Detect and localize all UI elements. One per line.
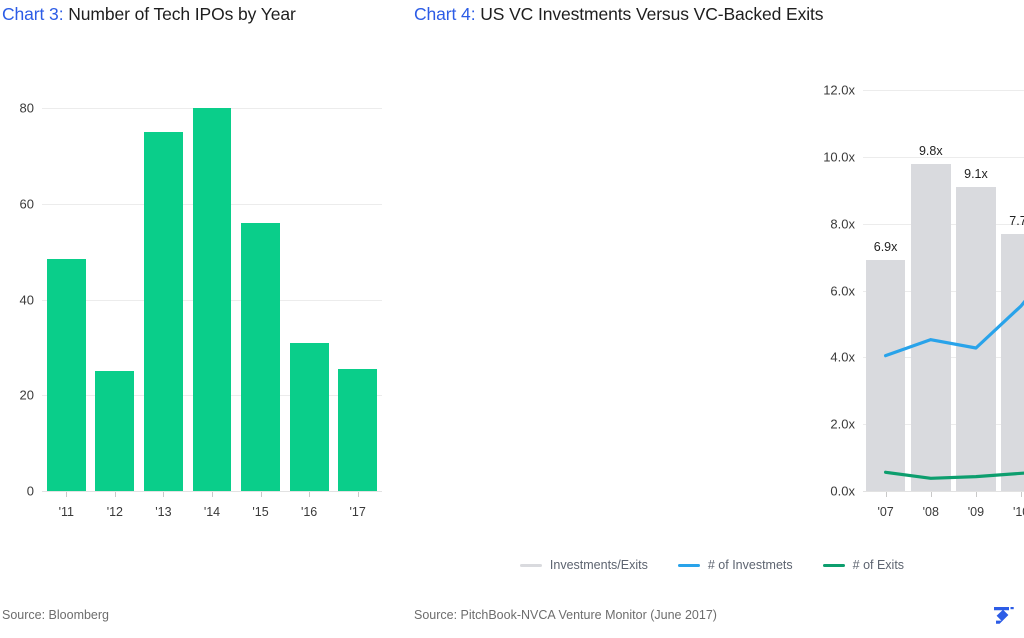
chart-3-bar	[193, 108, 232, 491]
chart-3-plot-area: 020406080'11'12'13'14'15'16'17	[42, 70, 382, 491]
chart-3-bar	[47, 259, 86, 491]
chart-3-x-tickmark	[358, 492, 359, 497]
chart-4-line	[886, 464, 1024, 479]
chart-3-x-tickmark	[309, 492, 310, 497]
legend-swatch-icon	[823, 564, 845, 567]
legend-swatch-icon	[520, 564, 542, 567]
legend-label: # of Exits	[853, 558, 904, 572]
chart-3-y-tick-label: 80	[2, 101, 34, 116]
chart-4-x-tick-label: '10	[999, 505, 1024, 519]
chart-3-x-tick-label: '13	[139, 505, 188, 519]
chart-3-y-tick-label: 0	[2, 484, 34, 499]
chart-3-y-tick-label: 40	[2, 292, 34, 307]
chart-3-bar	[241, 223, 280, 491]
chart-4-left-y-tick-label: 2.0x	[805, 417, 855, 432]
chart-3-x-tick-label: '17	[333, 505, 382, 519]
chart-4-x-tickmark	[976, 492, 977, 497]
chart-4-legend: Investments/Exits# of Investmets# of Exi…	[400, 558, 1024, 572]
chart-3-x-tickmark	[115, 492, 116, 497]
chart-3-x-tick-label: '15	[236, 505, 285, 519]
chart-4-x-tick-label: '08	[908, 505, 953, 519]
chart-3-panel: Chart 3: Number of Tech IPOs by Year 020…	[0, 0, 400, 638]
legend-swatch-icon	[678, 564, 700, 567]
legend-item[interactable]: # of Exits	[823, 558, 904, 572]
chart-3-x-tick-label: '12	[91, 505, 140, 519]
chart-3-x-tick-label: '11	[42, 505, 91, 519]
chart-3-x-tickmark	[261, 492, 262, 497]
chart-4-left-y-tick-label: 10.0x	[805, 149, 855, 164]
chart-4-panel: Chart 4: US VC Investments Versus VC-Bac…	[400, 0, 1024, 638]
chart-3-title-rest: Number of Tech IPOs by Year	[63, 4, 295, 24]
chart-4-title: Chart 4: US VC Investments Versus VC-Bac…	[414, 4, 823, 25]
chart-3-y-tick-label: 20	[2, 388, 34, 403]
chart-3-x-tickmark	[66, 492, 67, 497]
chart-4-left-y-tick-label: 8.0x	[805, 216, 855, 231]
chart-4-x-tickmark	[931, 492, 932, 497]
chart-4-title-lead: Chart 4:	[414, 4, 475, 24]
chart-3-x-tickmark	[212, 492, 213, 497]
chart-3-bar	[338, 369, 377, 491]
chart-3-x-tickmark	[163, 492, 164, 497]
chart-3-source: Source: Bloomberg	[2, 608, 109, 622]
chart-3-x-tick-label: '14	[188, 505, 237, 519]
chart-4-x-tick-label: '07	[863, 505, 908, 519]
chart-4-x-tickmark	[1021, 492, 1022, 497]
chart-4-x-tickmark	[886, 492, 887, 497]
chart-4-line-layer	[863, 70, 1024, 491]
chart-3-bar	[290, 343, 329, 491]
chart-4-left-y-tick-label: 12.0x	[805, 83, 855, 98]
chart-4-x-tick-label: '09	[953, 505, 998, 519]
chart-4-plot-area: 0.0x2.0x4.0x6.0x8.0x10.0x12.0x02,0004,00…	[863, 70, 1024, 491]
chart-4-baseline	[863, 491, 1024, 492]
chart-3-bar	[144, 132, 183, 491]
chart-4-source: Source: PitchBook-NVCA Venture Monitor (…	[414, 608, 717, 622]
chart-4-left-y-tick-label: 0.0x	[805, 484, 855, 499]
legend-label: Investments/Exits	[550, 558, 648, 572]
chart-3-title: Chart 3: Number of Tech IPOs by Year	[2, 4, 296, 25]
legend-label: # of Investmets	[708, 558, 793, 572]
chart-4-line	[886, 136, 1024, 356]
chart-3-y-tick-label: 60	[2, 196, 34, 211]
chart-3-title-lead: Chart 3:	[2, 4, 63, 24]
chart-4-left-y-tick-label: 4.0x	[805, 350, 855, 365]
chart-3-x-tick-label: '16	[285, 505, 334, 519]
chart-4-title-rest: US VC Investments Versus VC-Backed Exits	[475, 4, 823, 24]
legend-item[interactable]: # of Investmets	[678, 558, 793, 572]
toptal-logo-icon	[984, 598, 1018, 632]
chart-3-bar	[95, 371, 134, 491]
legend-item[interactable]: Investments/Exits	[520, 558, 648, 572]
chart-4-left-y-tick-label: 6.0x	[805, 283, 855, 298]
